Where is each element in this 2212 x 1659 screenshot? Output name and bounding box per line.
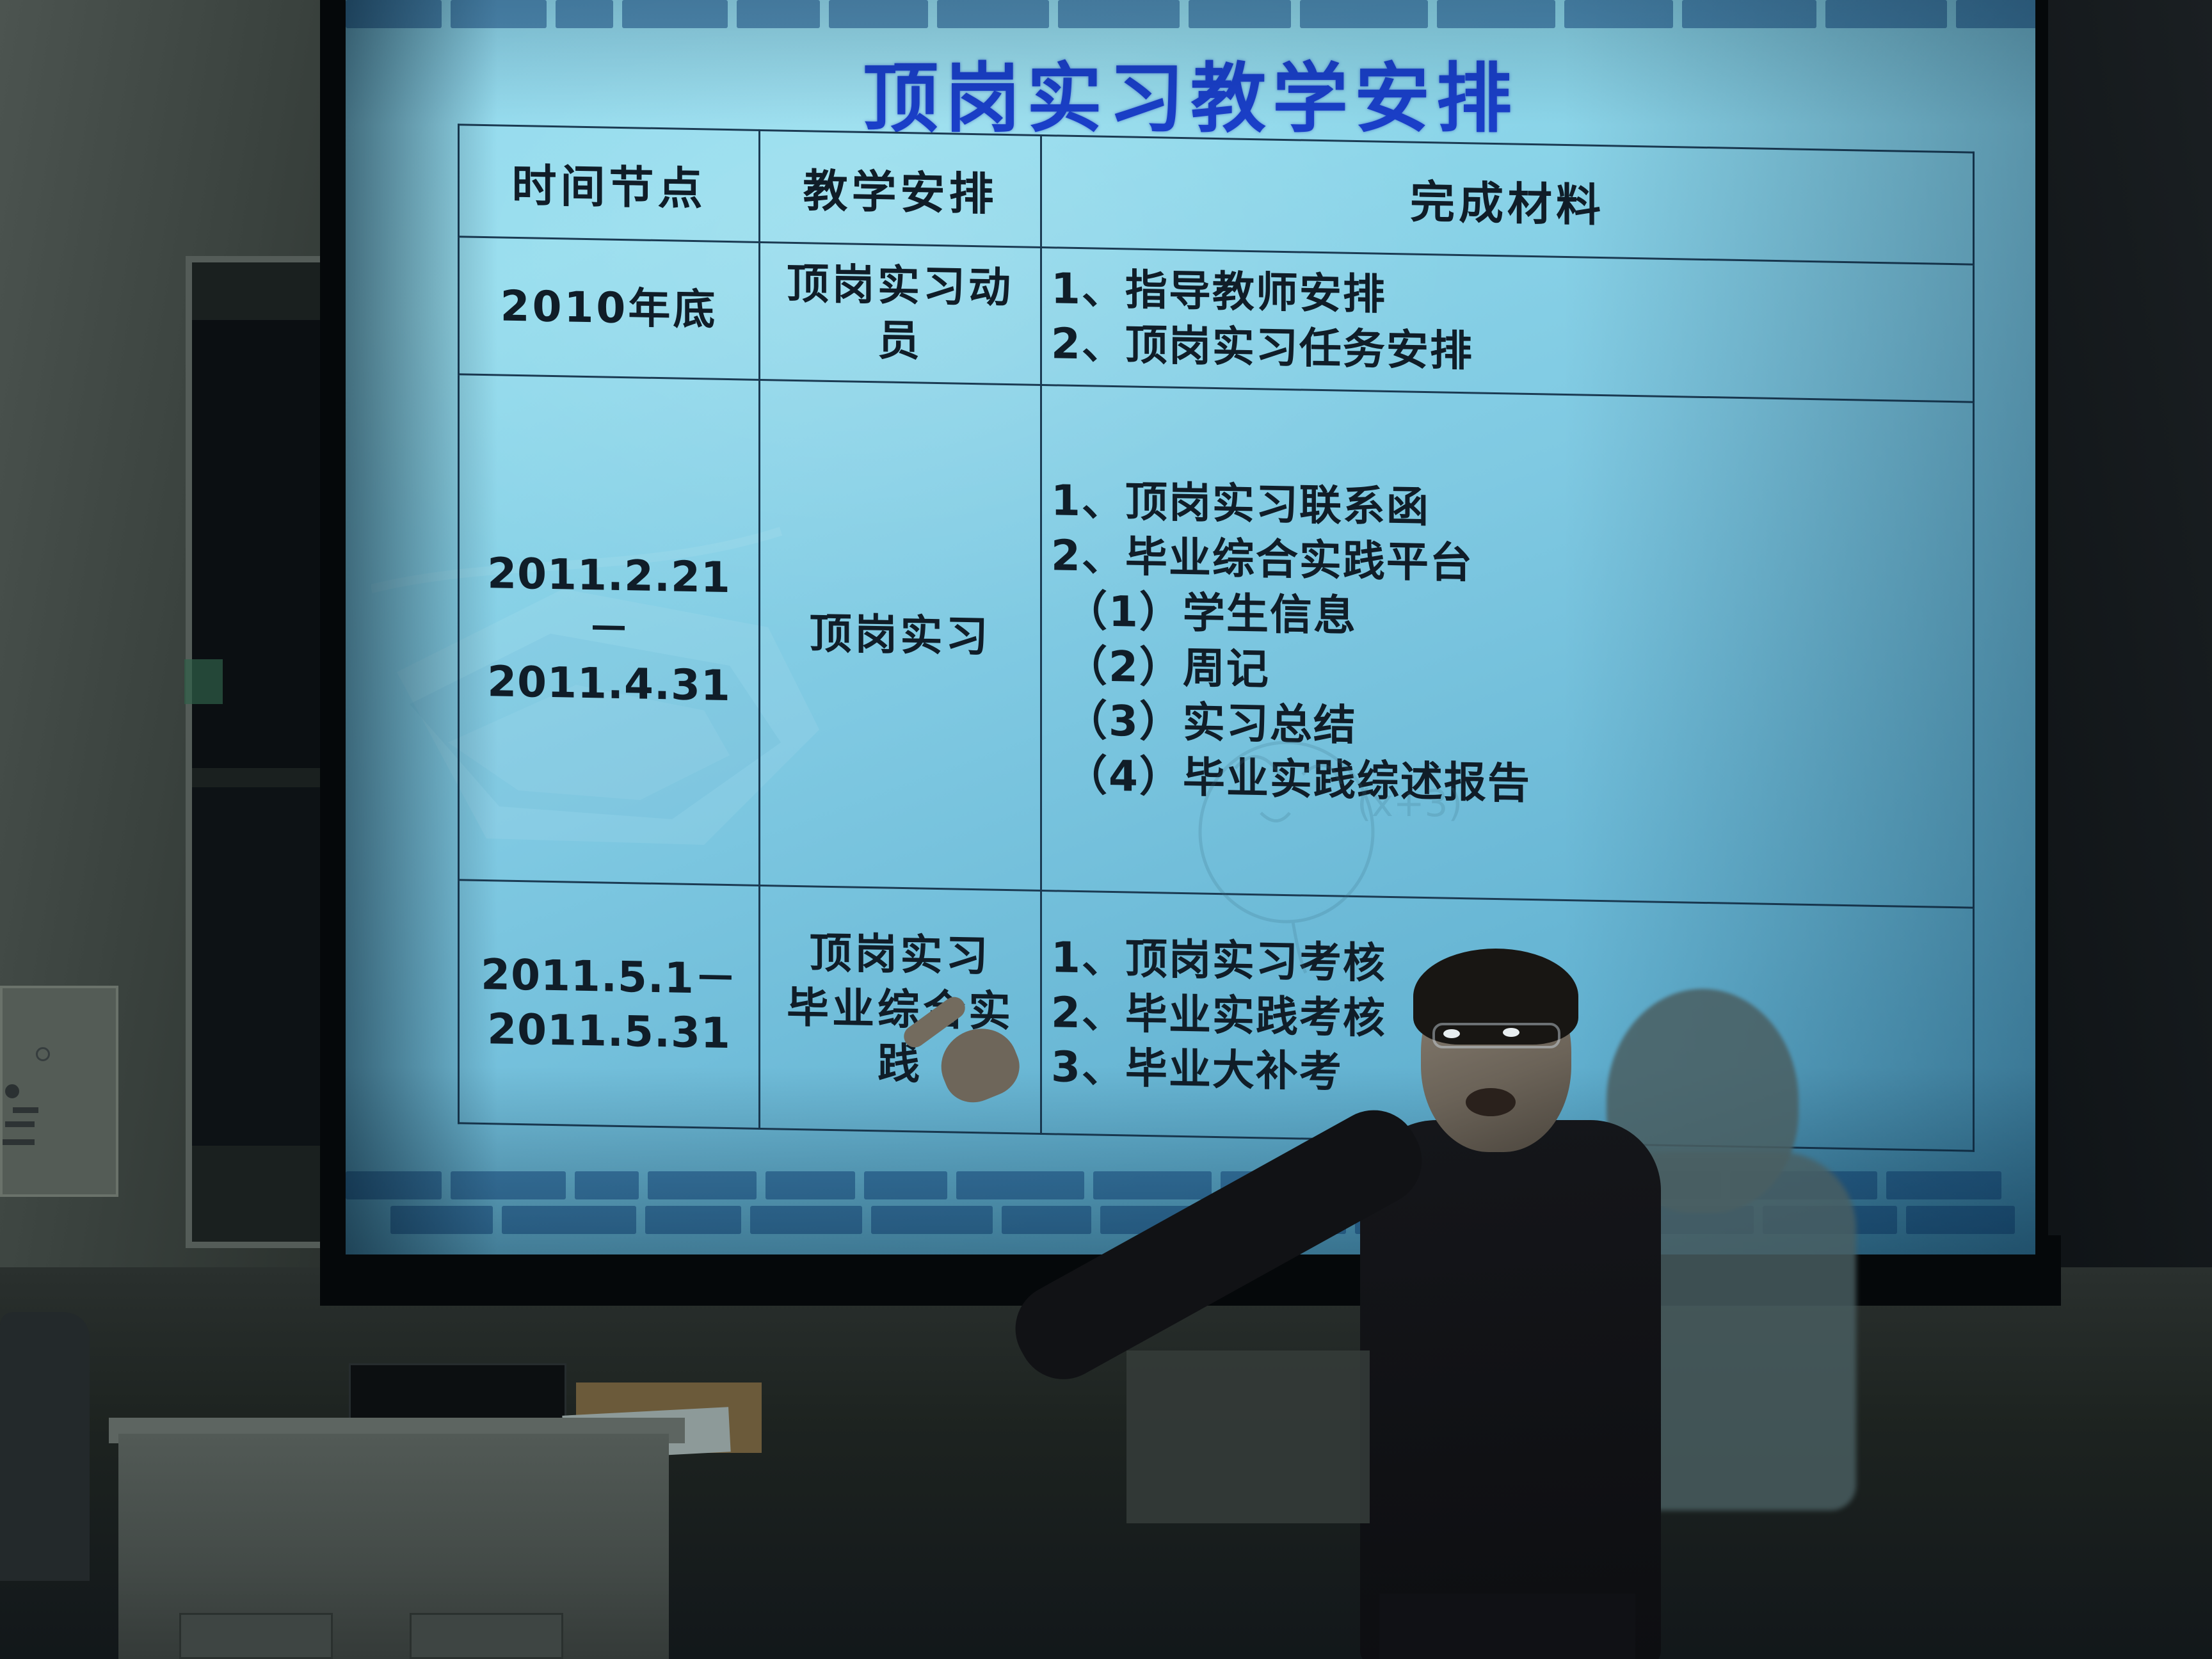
notice-text-line xyxy=(13,1107,38,1113)
table-row: 2011.2.21－ 2011.4.31 顶岗实习 1、顶岗实习联系函 2、毕业… xyxy=(459,374,1974,908)
teaching-line: 顶岗实习 xyxy=(810,609,991,661)
presenter-torso xyxy=(1360,1120,1661,1659)
cell-materials: 1、指导教师安排 2、顶岗实习任务安排 xyxy=(1041,247,1974,402)
podium-drawer[interactable] xyxy=(410,1613,563,1659)
slide-top-decorative-band xyxy=(346,0,2035,38)
column-header-teaching: 教学安排 xyxy=(760,130,1041,247)
column-header-time: 时间节点 xyxy=(459,125,760,243)
cell-teaching: 顶岗实习 xyxy=(760,380,1041,890)
presenter-eye xyxy=(1443,1029,1460,1038)
presenter-legs xyxy=(1379,1594,1635,1659)
window-pane-lower xyxy=(192,787,336,1146)
time-line: 2011.2.21－ xyxy=(469,546,749,659)
notice-dot-icon xyxy=(5,1084,19,1098)
teaching-line: 顶岗实习动员 xyxy=(787,259,1014,366)
chair xyxy=(0,1312,90,1581)
wall-notice-poster xyxy=(0,986,118,1197)
presenter-mouth xyxy=(1466,1088,1516,1116)
classroom-scene: 顶岗实习教学安排 时间节点 教学安排 完成材料 2010年底 xyxy=(0,0,2212,1659)
notice-text-line xyxy=(3,1139,35,1145)
time-line: 2011.5.1－ xyxy=(469,948,749,1007)
wall-panel xyxy=(1126,1350,1370,1523)
cell-teaching: 顶岗实习动员 xyxy=(760,242,1041,385)
wall-sticker xyxy=(184,659,223,704)
cell-materials: 1、顶岗实习联系函 2、毕业综合实践平台 （1）学生信息 （2）周记 （3）实习… xyxy=(1041,385,1974,908)
cell-time: 2011.2.21－ 2011.4.31 xyxy=(459,374,760,886)
teaching-line: 顶岗实习 xyxy=(769,925,1031,984)
presenter-eye xyxy=(1503,1028,1519,1037)
table-row: 2010年底 顶岗实习动员 1、指导教师安排 2、顶岗实习任务安排 xyxy=(459,237,1974,402)
notice-bullet-icon xyxy=(36,1047,50,1061)
column-header-materials: 完成材料 xyxy=(1041,135,1974,264)
time-line: 2011.5.31 xyxy=(469,1002,749,1061)
presenter xyxy=(1248,877,1888,1659)
cell-time: 2011.5.1－ 2011.5.31 xyxy=(459,880,760,1129)
notice-text-line xyxy=(5,1121,35,1127)
time-line: 2010年底 xyxy=(501,281,718,334)
cell-time: 2010年底 xyxy=(459,237,760,380)
time-line: 2011.4.31 xyxy=(469,654,749,714)
podium-drawer[interactable] xyxy=(179,1613,333,1659)
cell-teaching: 顶岗实习 毕业综合实践 xyxy=(760,885,1041,1134)
